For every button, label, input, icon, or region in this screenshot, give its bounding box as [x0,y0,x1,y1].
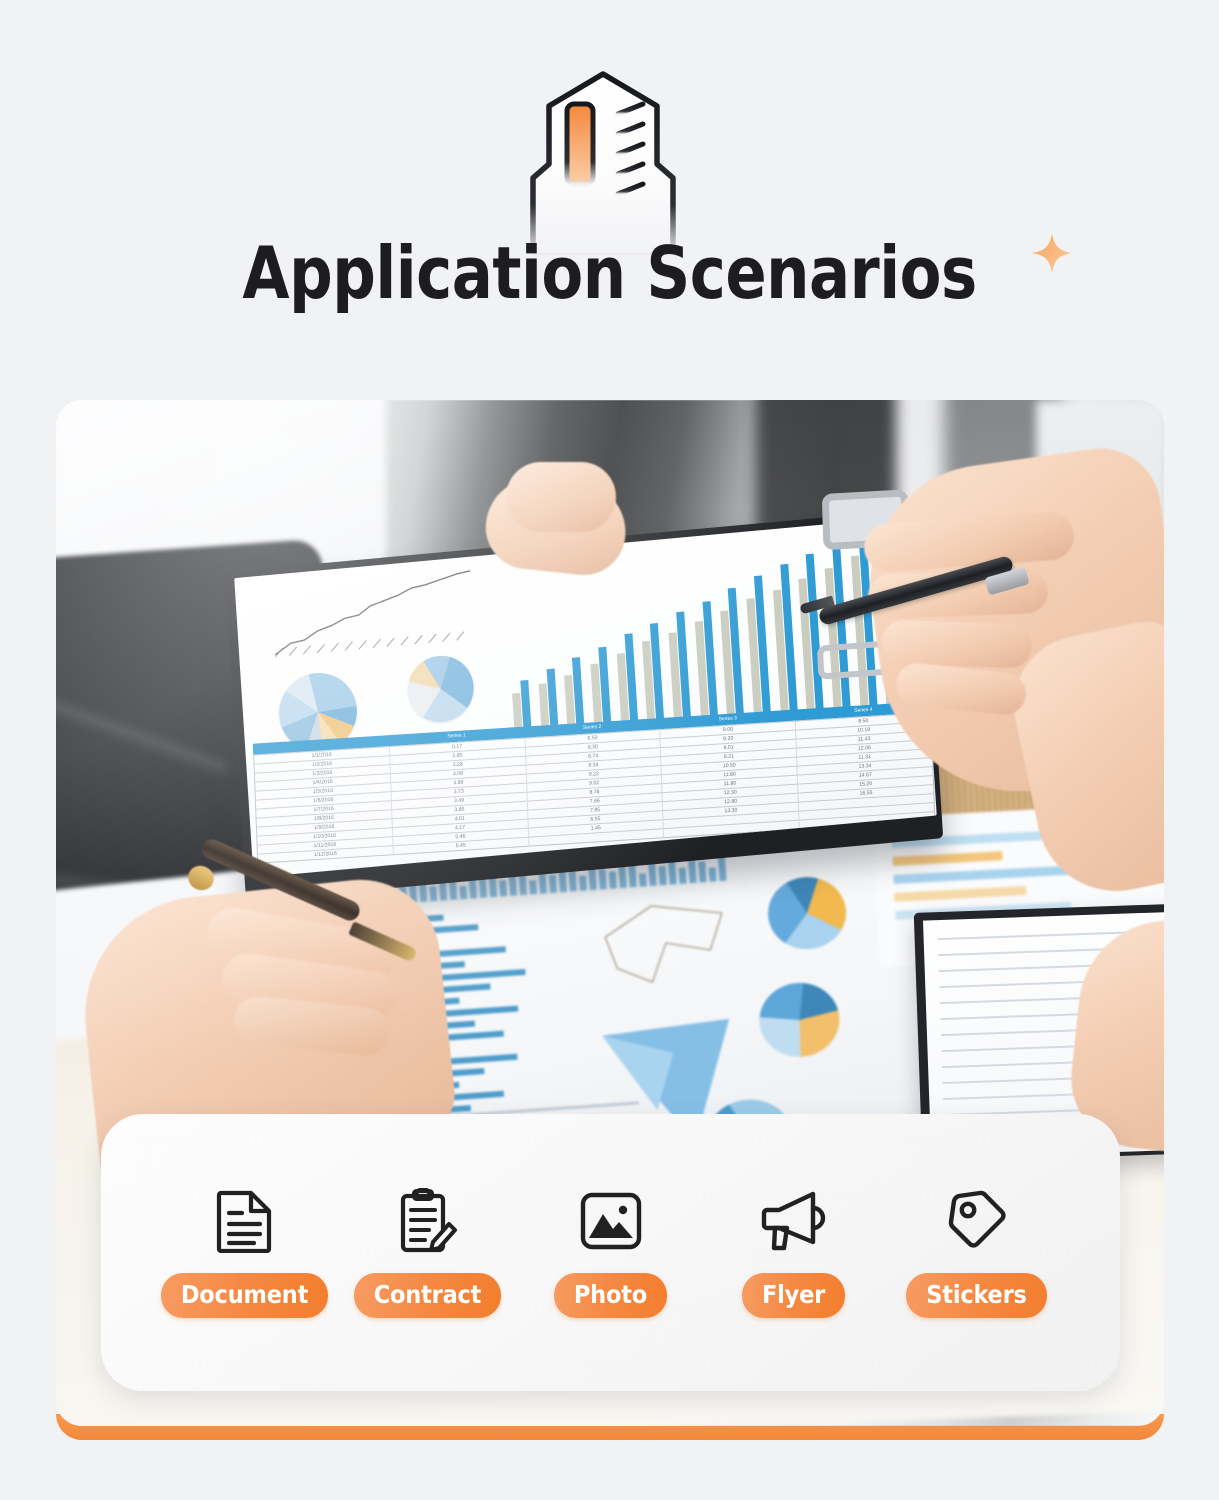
scenario-item-flyer[interactable]: Flyer [706,1187,881,1318]
scenario-item-document[interactable]: Document [157,1187,332,1318]
document-icon [211,1187,279,1255]
bar-group [663,545,693,724]
bar-group [743,538,773,717]
scenario-label-photo[interactable]: Photo [554,1273,667,1318]
contract-clipboard-pen-icon [394,1187,462,1255]
bar-group [504,560,534,739]
bar-group [769,536,799,715]
pie-chart [766,875,849,952]
bar-group [583,553,613,732]
photo-image-icon [577,1187,645,1255]
building-skyscraper-icon [497,66,709,256]
scenario-item-photo[interactable]: Photo [523,1187,698,1318]
scenario-label-flyer[interactable]: Flyer [742,1273,845,1318]
scatter-polygon-chart [589,890,746,1010]
suit-fold [56,684,229,774]
scenario-panel: Document Contract [101,1114,1120,1391]
page-header: Application Scenarios [0,0,1219,390]
pie-chart [757,980,842,1059]
bar-group [716,541,746,720]
sparkle-star-icon [1030,231,1074,275]
price-tag-icon [943,1187,1011,1255]
scenario-label-stickers[interactable]: Stickers [906,1273,1046,1318]
pie-chart [406,653,476,725]
scenario-item-stickers[interactable]: Stickers [889,1187,1064,1318]
page-root: Application Scenarios [0,0,1219,1500]
bar-group [530,558,560,737]
finger [881,619,1032,668]
scenario-item-contract[interactable]: Contract [340,1187,515,1318]
scenario-label-document[interactable]: Document [161,1273,328,1318]
bar-group [610,550,640,729]
hand-thumb-tip [506,462,616,532]
bar-group [636,548,666,727]
scenario-label-contract[interactable]: Contract [354,1273,501,1318]
megaphone-icon [760,1187,828,1255]
bar-group [689,543,719,722]
bar-group [557,555,587,734]
bar-group [796,533,826,712]
data-table: Series 1Series 2Series 3Series 4 1/1/201… [253,701,936,872]
line-chart [265,564,509,666]
table-body: 1/1/20160.176.509.008.501/2/20162.959.30… [253,712,935,864]
page-title: Application Scenarios [242,234,976,312]
